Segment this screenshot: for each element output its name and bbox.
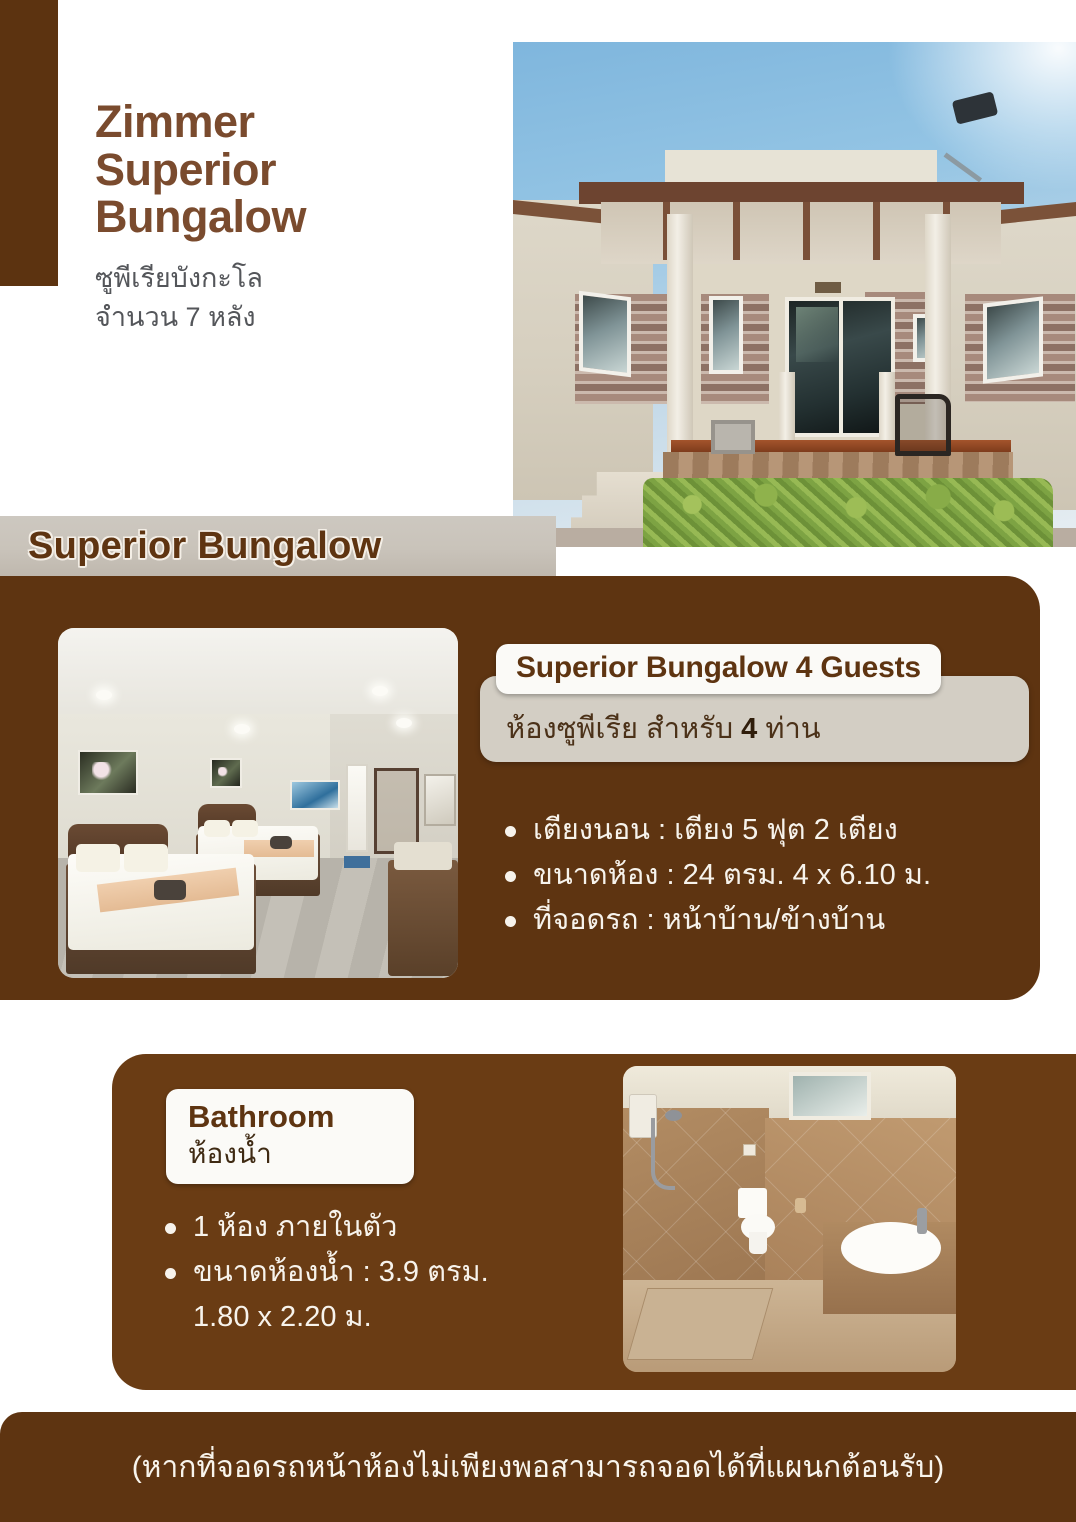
door-sign [815,282,841,293]
superior-subtitle-prefix: ห้องซูพีเรีย สำหรับ [506,713,741,745]
pillow [232,820,258,837]
sliding-door-divider [839,297,843,437]
toilet-pedestal [749,1232,767,1254]
page-subtitle-line-2: จำนวน 7 หลัง [95,298,495,337]
poster-root: Zimmer Superior Bungalow ซูพีเรียบังกะโล… [0,0,1076,1522]
list-item: เตียงนอน : เตียง 5 ฟุต 2 เตียง [503,808,1023,853]
exterior-window [579,291,631,377]
floor-mat [344,856,370,868]
exterior-window [983,296,1043,383]
bungalow-exterior-photo [513,42,1076,547]
ceiling [58,628,458,724]
superior-feature-list: เตียงนอน : เตียง 5 ฟุต 2 เตียง ขนาดห้อง … [503,808,1023,943]
superior-title-label: Superior Bungalow 4 Guests [516,651,921,685]
ceiling-light-icon [372,686,388,696]
bathroom-feature-list: 1 ห้อง ภายในตัว ขนาดห้องน้ำ : 3.9 ตรม. 1… [163,1205,603,1340]
patio-bench [711,420,755,454]
ceiling-light-icon [234,724,250,734]
pillow [204,820,230,837]
header-text-group: Zimmer Superior Bungalow ซูพีเรียบังกะโล… [95,98,495,337]
patio-chair [895,394,951,456]
list-item-text: ขนาดห้องน้ำ : 3.9 ตรม. [193,1256,489,1288]
page-title-line-1: Zimmer [95,98,495,146]
list-item: ที่จอดรถ : หน้าบ้าน/ข้างบ้าน [503,898,1023,943]
folded-towel [270,836,292,849]
wall-art-flowers [210,758,242,788]
bathroom-title-en: Bathroom [188,1101,394,1134]
superior-subtitle: ห้องซูพีเรีย สำหรับ 4 ท่าน [506,705,821,751]
porch-roof-edge [579,182,1024,204]
banner-label: Superior Bungalow [28,525,381,568]
superior-bungalow-banner: Superior Bungalow [0,516,556,576]
page-subtitle: ซูพีเรียบังกะโล จำนวน 7 หลัง [95,259,495,337]
roof-beam [733,202,740,260]
glass-reflection [796,307,838,362]
pillow [124,844,168,872]
roof-beam [803,202,810,260]
list-item: ขนาดห้องน้ำ : 3.9 ตรม. 1.80 x 2.20 ม. [163,1250,603,1340]
page-title: Zimmer Superior Bungalow [95,98,495,241]
header-accent-bar [0,0,58,286]
list-item: 1 ห้อง ภายในตัว [163,1205,603,1250]
mirror [424,774,456,826]
folded-towel [154,880,186,900]
interior-door [346,764,368,852]
toilet-paper-holder [795,1198,806,1213]
page-title-line-3: Bungalow [95,193,495,241]
wall-art-flowers [78,750,138,795]
wall-art-seascape [290,780,340,810]
bathroom-title-card: Bathroom ห้องน้ำ [166,1089,414,1184]
shower-hose [651,1118,675,1190]
shower-head [665,1110,682,1121]
bathroom-window [789,1072,871,1120]
roof-beam [873,202,880,260]
bedroom-photo [58,628,458,978]
pillow [76,844,120,872]
list-item-continuation: 1.80 x 2.20 ม. [193,1295,603,1340]
hedge-shrub [643,478,1053,547]
superior-guest-count: 4 [741,713,757,745]
bathroom-title-th: ห้องน้ำ [188,1137,394,1171]
wooden-chair [388,860,458,976]
bathroom-photo [623,1066,956,1372]
footer-note: (หากที่จอดรถหน้าห้องไม่เพียงพอสามารถจอดไ… [0,1412,1076,1522]
shower-pan [627,1288,774,1360]
list-item: ขนาดห้อง : 24 ตรม. 4 x 6.10 ม. [503,853,1023,898]
page-title-line-2: Superior [95,146,495,194]
superior-subtitle-suffix: ท่าน [757,713,820,745]
ceiling-light-icon [96,690,112,700]
ceiling-light-icon [396,718,412,728]
wall-switch [743,1144,756,1156]
superior-title-pill: Superior Bungalow 4 Guests [496,644,941,694]
faucet [917,1208,927,1234]
page-subtitle-line-1: ซูพีเรียบังกะโล [95,259,495,298]
exterior-window [709,296,743,374]
